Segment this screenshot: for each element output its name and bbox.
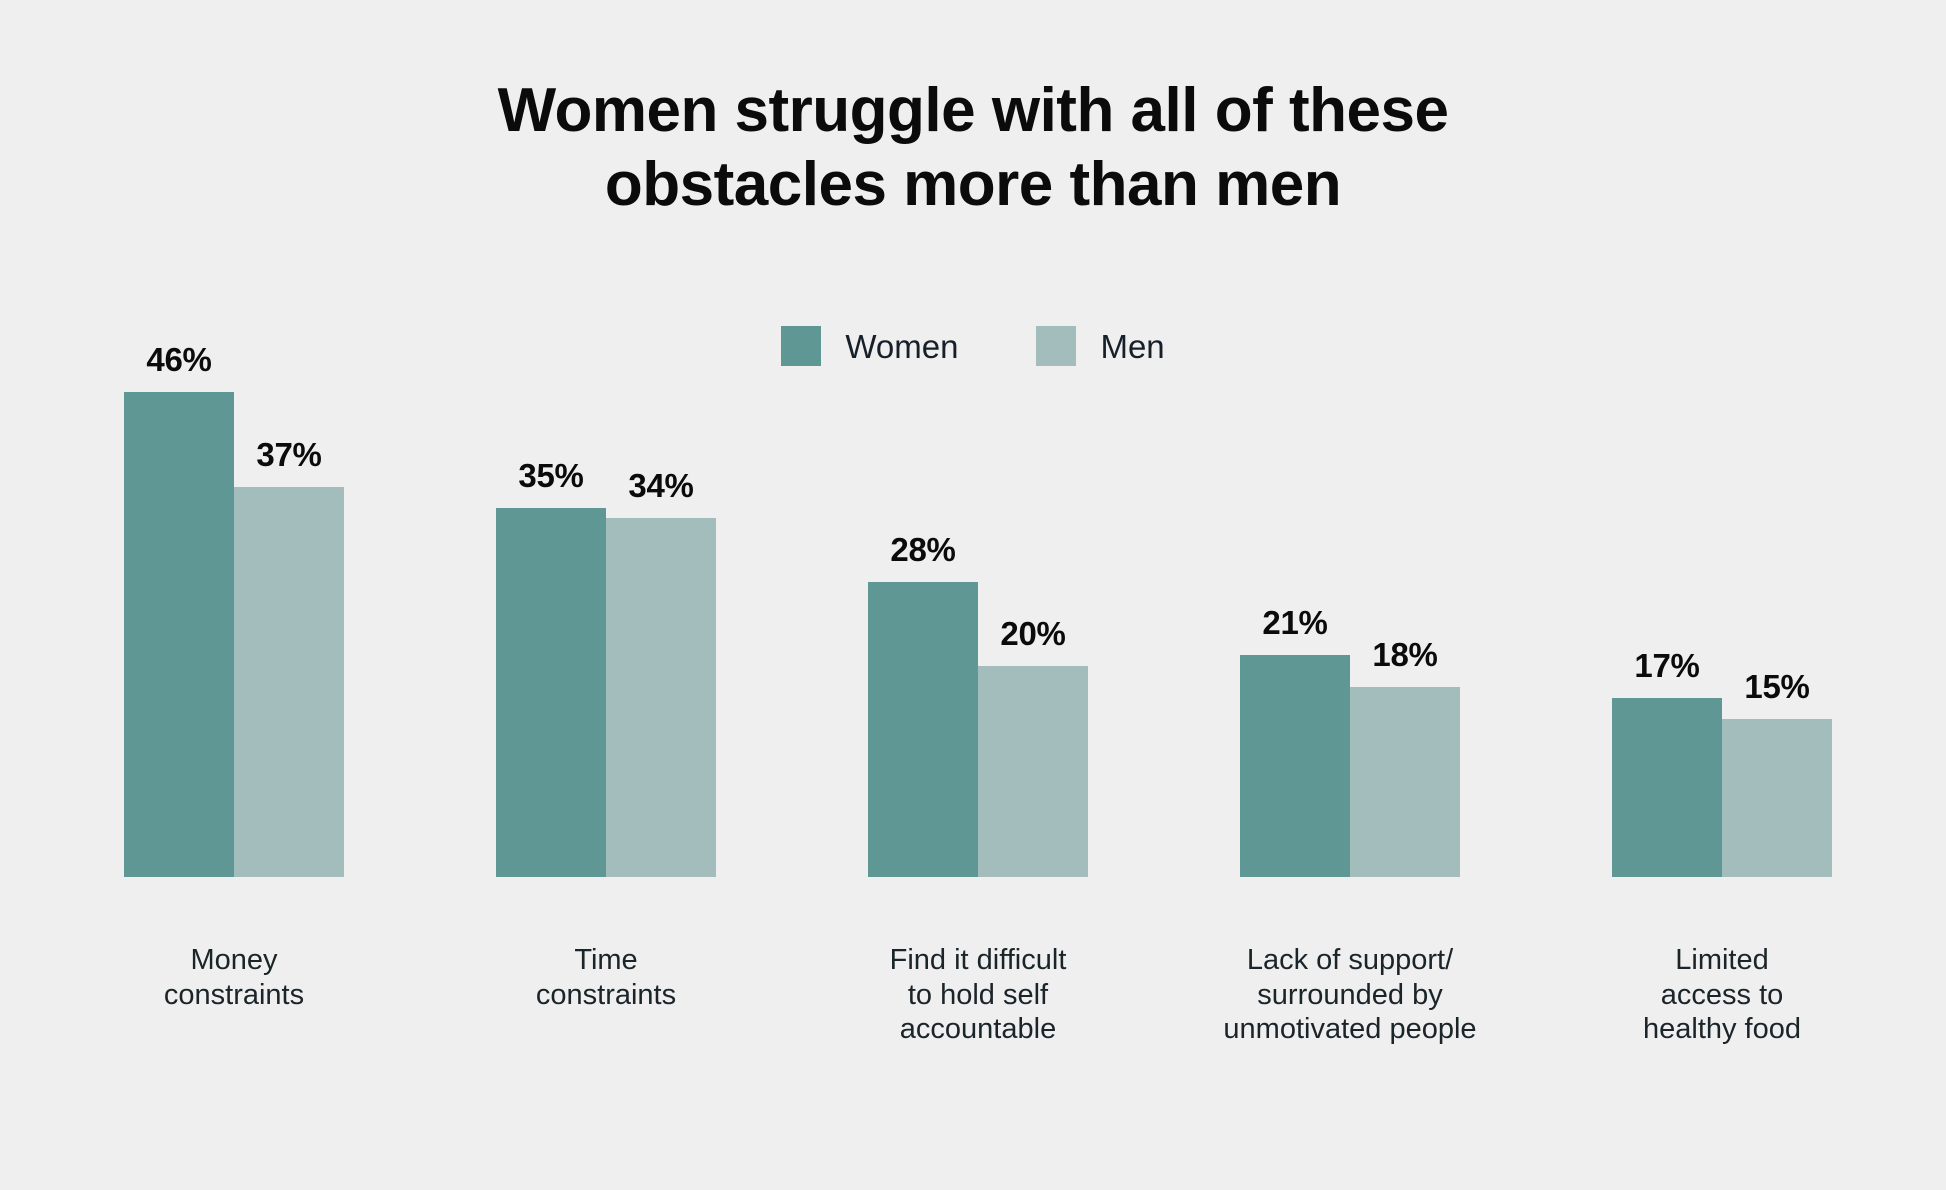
- category-label-line: Limited: [1557, 943, 1887, 978]
- bar-rect[interactable]: [124, 392, 234, 877]
- bar-rect[interactable]: [606, 518, 716, 877]
- bar-value-label: 46%: [146, 341, 211, 379]
- category-label-line: surrounded by: [1185, 978, 1515, 1013]
- bar-women[interactable]: 46%: [124, 392, 234, 877]
- bar-pair: 35%34%: [496, 508, 716, 877]
- bar-rect[interactable]: [234, 487, 344, 877]
- bar-chart-plot-area: 46%37%Moneyconstraints35%34%Timeconstrai…: [0, 0, 1946, 1190]
- category-label-line: healthy food: [1557, 1012, 1887, 1047]
- category-label-line: to hold self: [813, 978, 1143, 1013]
- bar-women[interactable]: 17%: [1612, 698, 1722, 877]
- bar-men[interactable]: 15%: [1722, 719, 1832, 877]
- category-label-line: Time: [441, 943, 771, 978]
- bar-value-label: 34%: [628, 467, 693, 505]
- category-label-line: Find it difficult: [813, 943, 1143, 978]
- bar-value-label: 28%: [890, 531, 955, 569]
- bar-value-label: 17%: [1634, 647, 1699, 685]
- category-label-line: constraints: [441, 978, 771, 1013]
- category-label-line: accountable: [813, 1012, 1143, 1047]
- category-label-line: Money: [69, 943, 399, 978]
- bar-pair: 46%37%: [124, 392, 344, 877]
- bar-rect[interactable]: [496, 508, 606, 877]
- category-label: Timeconstraints: [441, 943, 771, 1012]
- category-label: Limitedaccess tohealthy food: [1557, 943, 1887, 1047]
- bar-women[interactable]: 28%: [868, 582, 978, 877]
- category-label-line: constraints: [69, 978, 399, 1013]
- category-label: Lack of support/surrounded byunmotivated…: [1185, 943, 1515, 1047]
- bar-women[interactable]: 35%: [496, 508, 606, 877]
- bar-value-label: 21%: [1262, 604, 1327, 642]
- bar-rect[interactable]: [868, 582, 978, 877]
- bar-rect[interactable]: [1722, 719, 1832, 877]
- bar-pair: 21%18%: [1240, 655, 1460, 877]
- category-label-line: access to: [1557, 978, 1887, 1013]
- bar-value-label: 37%: [256, 436, 321, 474]
- bar-pair: 28%20%: [868, 582, 1088, 877]
- bar-men[interactable]: 20%: [978, 666, 1088, 877]
- bar-men[interactable]: 37%: [234, 487, 344, 877]
- bar-men[interactable]: 18%: [1350, 687, 1460, 877]
- bar-value-label: 35%: [518, 457, 583, 495]
- bar-rect[interactable]: [978, 666, 1088, 877]
- bar-rect[interactable]: [1240, 655, 1350, 877]
- bar-rect[interactable]: [1350, 687, 1460, 877]
- category-label-line: unmotivated people: [1185, 1012, 1515, 1047]
- bar-value-label: 18%: [1372, 636, 1437, 674]
- bar-value-label: 15%: [1744, 668, 1809, 706]
- bar-men[interactable]: 34%: [606, 518, 716, 877]
- bar-pair: 17%15%: [1612, 698, 1832, 877]
- category-label-line: Lack of support/: [1185, 943, 1515, 978]
- category-label: Find it difficultto hold selfaccountable: [813, 943, 1143, 1047]
- category-label: Moneyconstraints: [69, 943, 399, 1012]
- bar-rect[interactable]: [1612, 698, 1722, 877]
- bar-women[interactable]: 21%: [1240, 655, 1350, 877]
- bar-value-label: 20%: [1000, 615, 1065, 653]
